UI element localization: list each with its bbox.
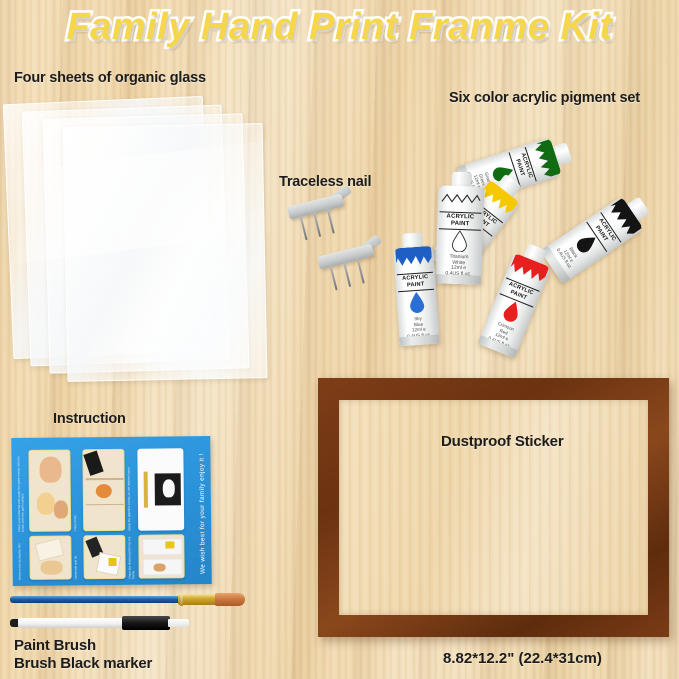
paint-brush <box>10 592 245 606</box>
caption-black-marker: Brush Black marker <box>14 655 152 672</box>
paint-tube-titanium-white: ACRYLICPAINT TitaniumWhite 12ml e 0.4US … <box>435 171 485 285</box>
caption-organic-glass: Four sheets of organic glass <box>14 70 206 86</box>
instruction-text-column: Place your hand flat and apply the paint… <box>17 450 27 532</box>
marker-cap <box>122 616 170 630</box>
glass-sheet <box>63 123 268 382</box>
hand-photo <box>37 493 55 515</box>
page-title: Family Hand Print Franme Kit <box>0 6 679 49</box>
organic-glass-sheets <box>8 96 273 396</box>
instruction-text-column: Assemble and fix <box>74 535 83 579</box>
paint-tube-crimson-red: ACRYLICPAINT CrimsonRed 12ml e 0.4US fl.… <box>477 240 556 359</box>
paint-tube-black: ACRYLICPAINT Black 12ml e 0.4US fl.oz. <box>540 188 655 284</box>
instruction-tagline: We wish best for your family enjoy it ! <box>198 450 206 574</box>
instruction-sheet: Place your hand flat and apply the paint… <box>11 436 212 586</box>
nail-pin-icon <box>313 211 321 237</box>
caption-frame-size: 8.82*12.2" (22.4*31cm) <box>443 650 602 667</box>
caption-traceless-nail: Traceless nail <box>279 174 371 190</box>
hand-photo <box>54 500 68 518</box>
photo-frame <box>318 378 669 637</box>
product-infographic: Family Hand Print Franme Kit Four sheets… <box>0 0 679 679</box>
instruction-photo-panel <box>29 535 71 579</box>
paint-splash-icon <box>395 246 432 270</box>
tube-brand: ACRYLICPAINT <box>397 272 434 292</box>
caption-dustproof-sticker: Dustproof Sticker <box>441 433 563 450</box>
paint-splash-icon <box>440 185 477 208</box>
tube-body: ACRYLICPAINT CrimsonRed 12ml e 0.4US fl.… <box>477 253 551 359</box>
paint-tube-sky-blue: ACRYLICPAINT SkyBlue 12ml e 0.4US fl.oz. <box>392 232 440 347</box>
nail-pin-icon <box>343 261 351 287</box>
instruction-text-column: Place the finished print into the frame <box>128 535 137 579</box>
color-drop-icon <box>450 230 469 253</box>
caption-instruction: Instruction <box>53 411 126 427</box>
instruction-photo-panel <box>28 449 71 531</box>
instruction-photo-panel <box>137 448 184 530</box>
black-marker <box>10 615 189 631</box>
marker-tip <box>168 619 189 627</box>
tube-crimp <box>399 334 440 346</box>
brush-handle <box>10 596 180 603</box>
instruction-photo-panel <box>82 449 125 531</box>
tube-body: ACRYLICPAINT TitaniumWhite 12ml e 0.4US … <box>435 185 484 285</box>
caption-paint-brush: Paint Brush <box>14 637 96 654</box>
marker-barrel <box>18 618 128 628</box>
instruction-text-column: Remove the protective film <box>18 536 27 580</box>
brush-bristles <box>215 593 245 606</box>
tube-body: ACRYLICPAINT Black 12ml e 0.4US fl.oz. <box>540 196 644 284</box>
nail-pin-icon <box>329 265 337 291</box>
hand-photo <box>39 457 61 483</box>
tube-body: ACRYLICPAINT SkyBlue 12ml e 0.4US fl.oz. <box>393 246 440 347</box>
nail-pin-icon <box>357 258 365 284</box>
instruction-text-column: Apply the pigment evenly on the finished… <box>127 449 137 531</box>
nail-pin-icon <box>299 215 307 241</box>
color-drop-icon <box>407 290 426 313</box>
tube-crimp <box>435 274 481 285</box>
instruction-photo-panel <box>83 535 125 579</box>
caption-pigment-set: Six color acrylic pigment set <box>449 90 640 106</box>
brush-ferrule <box>178 594 218 605</box>
tube-brand: ACRYLICPAINT <box>439 211 482 230</box>
instruction-photo-panel <box>138 534 184 578</box>
nail-pin-icon <box>327 208 335 234</box>
